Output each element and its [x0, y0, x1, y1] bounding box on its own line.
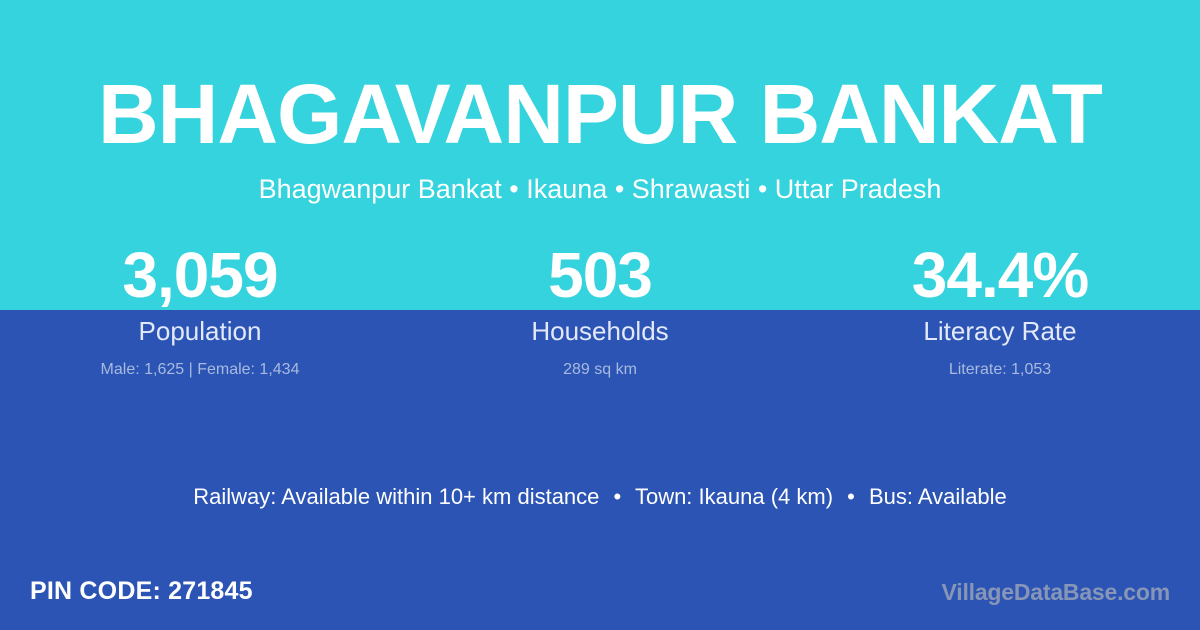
- card-header: BHAGAVANPUR BANKAT Bhagwanpur Bankat • I…: [0, 0, 1200, 203]
- stat-households: 503 Households 289 sq km: [400, 243, 800, 378]
- bullet-separator-icon: •: [606, 484, 630, 509]
- stat-sublabel: 289 sq km: [400, 344, 800, 378]
- infrastructure-bus: Bus: Available: [869, 484, 1007, 509]
- stat-literacy-rate: 34.4% Literacy Rate Literate: 1,053: [800, 243, 1200, 378]
- card-footer: PIN CODE: 271845 VillageDataBase.com: [0, 570, 1200, 630]
- stat-label: Literacy Rate: [800, 310, 1200, 344]
- village-info-card: BHAGAVANPUR BANKAT Bhagwanpur Bankat • I…: [0, 0, 1200, 630]
- stats-row: 3,059 Population Male: 1,625 | Female: 1…: [0, 243, 1200, 378]
- page-title: BHAGAVANPUR BANKAT: [0, 0, 1200, 156]
- stat-label: Households: [400, 310, 800, 344]
- stat-population: 3,059 Population Male: 1,625 | Female: 1…: [0, 243, 400, 378]
- breadcrumb: Bhagwanpur Bankat • Ikauna • Shrawasti •…: [0, 156, 1200, 203]
- bullet-separator-icon: •: [839, 484, 863, 509]
- stat-label: Population: [0, 310, 400, 344]
- infrastructure-town: Town: Ikauna (4 km): [635, 484, 833, 509]
- pin-code: PIN CODE: 271845: [30, 576, 253, 606]
- stat-value: 503: [400, 243, 800, 310]
- brand-watermark: VillageDataBase.com: [942, 578, 1170, 606]
- stat-sublabel: Literate: 1,053: [800, 344, 1200, 378]
- stat-value: 3,059: [0, 243, 400, 310]
- stat-sublabel: Male: 1,625 | Female: 1,434: [0, 344, 400, 378]
- infrastructure-summary: Railway: Available within 10+ km distanc…: [0, 484, 1200, 510]
- stat-value: 34.4%: [800, 243, 1200, 310]
- infrastructure-railway: Railway: Available within 10+ km distanc…: [193, 484, 599, 509]
